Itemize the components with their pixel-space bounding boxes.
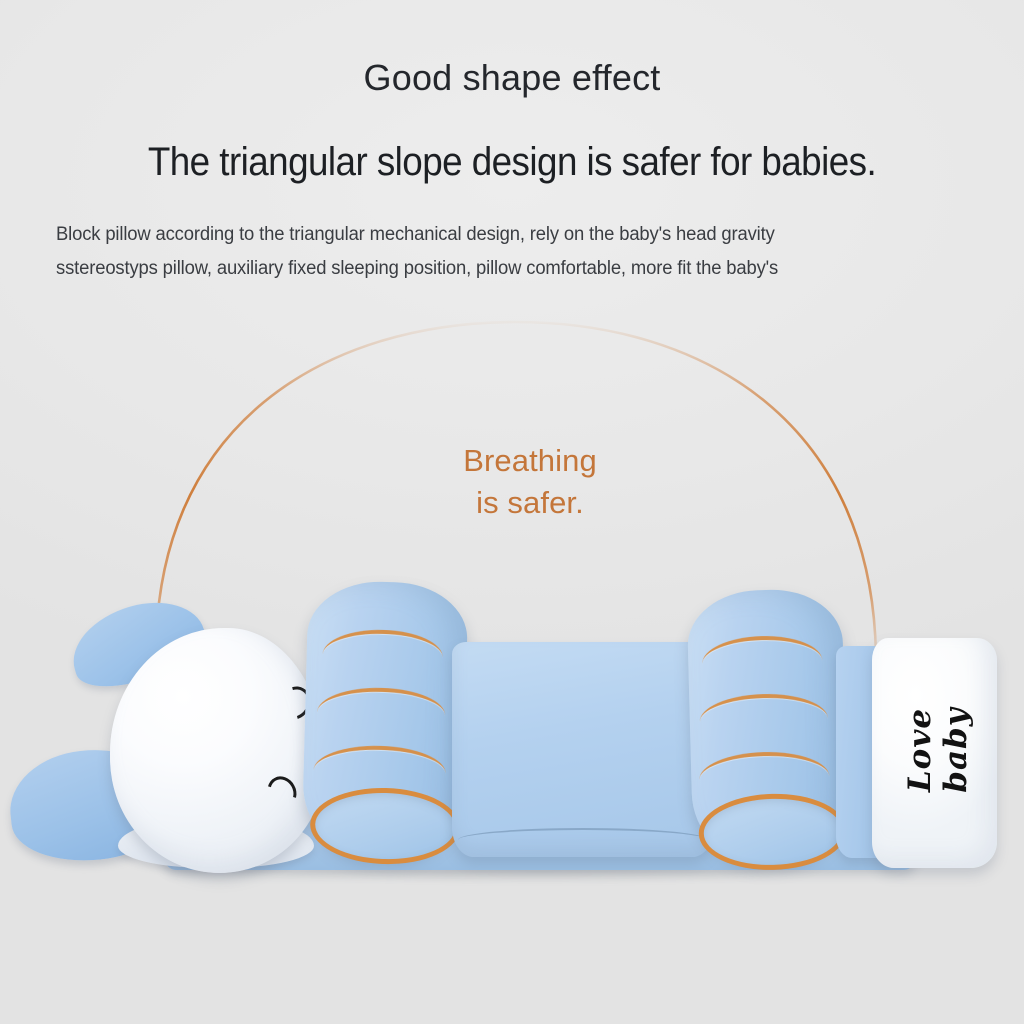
bolster-right xyxy=(686,588,848,864)
love-baby-label: Love baby xyxy=(902,660,974,840)
page-headline: Good shape effect xyxy=(0,56,1024,100)
stitch-line xyxy=(323,628,444,657)
center-mattress xyxy=(452,642,714,857)
description-line-1: Block pillow according to the triangular… xyxy=(56,218,941,252)
description-line-2: sstereostyps pillow, auxiliary fixed sle… xyxy=(56,252,941,286)
page-subheading: The triangular slope design is safer for… xyxy=(41,138,983,186)
stitch-line xyxy=(317,686,446,715)
bolster-left xyxy=(301,580,468,859)
stitch-line xyxy=(314,744,447,773)
eyebrow-icon xyxy=(262,771,302,812)
product-marketing-image: Good shape effect The triangular slope d… xyxy=(0,0,1024,1024)
callout-line-2: is safer. xyxy=(415,482,645,524)
love-baby-pillow: Love baby xyxy=(872,638,997,868)
stitch-line xyxy=(699,750,830,779)
stitch-line xyxy=(699,692,828,721)
bunny-head xyxy=(110,628,325,873)
stitch-line xyxy=(702,635,823,664)
description-paragraph: Block pillow according to the triangular… xyxy=(56,218,941,286)
callout-line-1: Breathing xyxy=(415,440,645,482)
breathing-callout: Breathing is safer. xyxy=(415,440,645,524)
product-illustration: Love baby xyxy=(0,560,1024,960)
